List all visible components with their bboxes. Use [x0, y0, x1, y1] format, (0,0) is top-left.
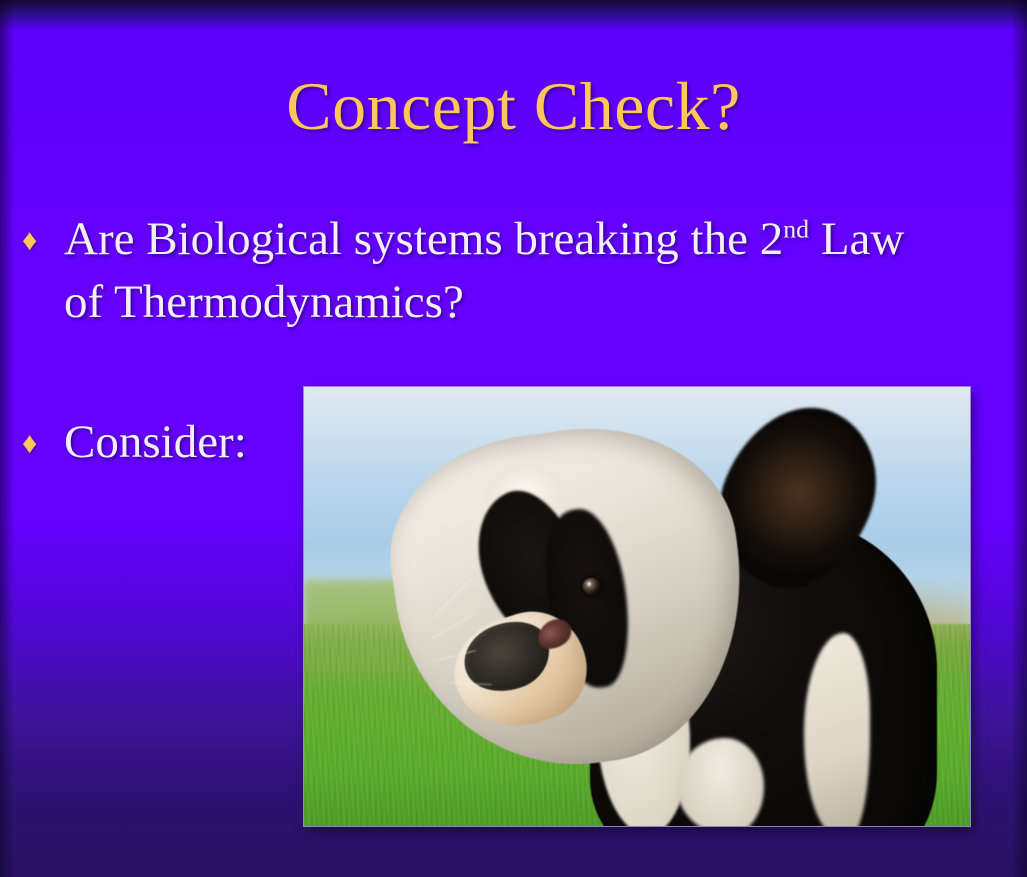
- ordinal-suffix: nd: [783, 214, 809, 243]
- cow-photo-canvas: [304, 387, 970, 826]
- cow-whisker: [432, 613, 474, 638]
- cow-figure: [304, 387, 970, 826]
- diamond-bullet-icon: ♦: [22, 411, 64, 459]
- list-item-text-main: Consider:: [64, 416, 247, 468]
- list-item-text-main: Are Biological systems breaking the 2: [64, 213, 783, 265]
- list-item-text: Are Biological systems breaking the 2nd …: [64, 208, 927, 333]
- presentation-slide: Concept Check? ♦ Are Biological systems …: [0, 0, 1027, 877]
- list-item: ♦ Are Biological systems breaking the 2n…: [22, 208, 927, 333]
- cow-whisker: [433, 577, 472, 618]
- diamond-bullet-icon: ♦: [22, 208, 64, 256]
- cow-photo: [304, 387, 970, 826]
- page-title: Concept Check?: [0, 72, 1027, 140]
- cow-body-white-patch: [677, 738, 764, 826]
